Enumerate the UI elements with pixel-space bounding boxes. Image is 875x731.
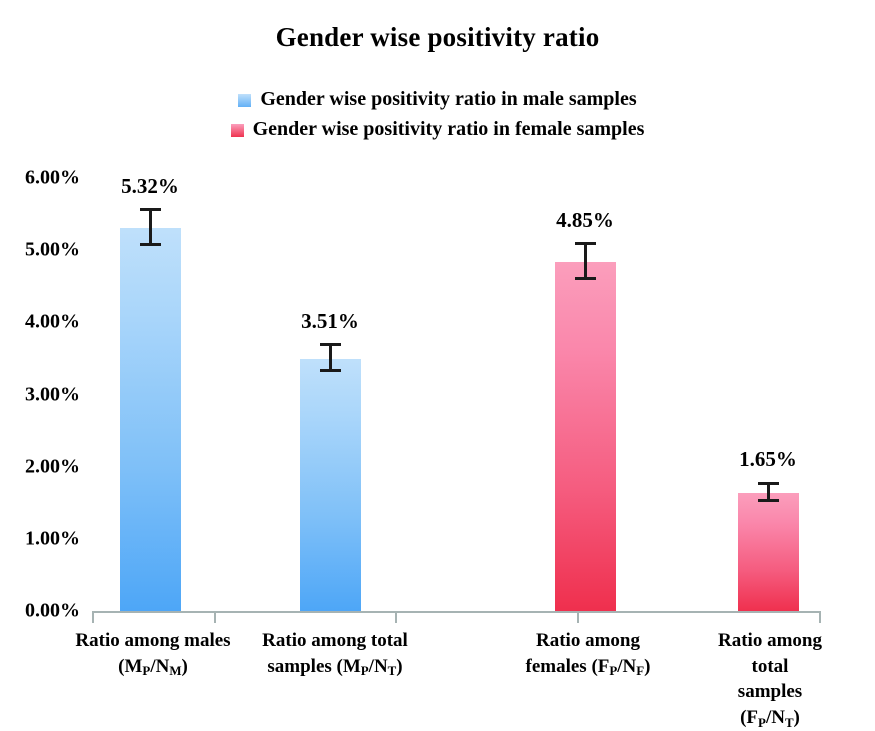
y-axis-tick-label: 3.00% xyxy=(25,383,80,406)
y-axis-tick-label: 6.00% xyxy=(25,167,80,190)
bar-value-label: 1.65% xyxy=(739,447,797,472)
gender-positivity-bar-chart: Gender wise positivity ratio Gender wise… xyxy=(0,0,875,695)
category-label-line-1: Ratio among total xyxy=(262,628,408,654)
category-label-line-1: Ratio among xyxy=(526,628,651,654)
legend-item-male[interactable]: Gender wise positivity ratio in male sam… xyxy=(0,84,875,114)
x-axis-category-label: Ratio amongfemales (FP/NF) xyxy=(526,628,651,679)
error-bar-cap-upper xyxy=(575,242,596,245)
category-label-line-2: samples (MP/NT) xyxy=(262,654,408,680)
bar-value-label: 5.32% xyxy=(121,174,179,199)
x-axis-end-cap xyxy=(819,612,821,623)
chart-title: Gender wise positivity ratio xyxy=(0,22,875,53)
error-bar-stem xyxy=(767,483,770,500)
x-axis-tick-1 xyxy=(214,612,216,623)
bar-ratio-among-males[interactable] xyxy=(120,228,181,612)
legend-item-female[interactable]: Gender wise positivity ratio in female s… xyxy=(0,114,875,144)
legend-label-male: Gender wise positivity ratio in male sam… xyxy=(260,88,636,111)
legend-label-female: Gender wise positivity ratio in female s… xyxy=(253,118,645,141)
x-axis-tick-2 xyxy=(395,612,397,623)
y-axis-tick-label: 4.00% xyxy=(25,311,80,334)
error-bar-cap-lower xyxy=(758,499,779,502)
error-bar-stem xyxy=(149,210,152,245)
error-bar-cap-lower xyxy=(575,277,596,280)
legend-swatch-male-icon xyxy=(238,94,251,107)
y-axis-tick-label: 0.00% xyxy=(25,600,80,623)
error-bar-stem xyxy=(584,244,587,279)
error-bar-cap-upper xyxy=(140,208,161,211)
bar-ratio-among-total-samples-female[interactable] xyxy=(738,493,799,612)
x-axis-line xyxy=(92,611,821,613)
y-axis-tick-label: 2.00% xyxy=(25,455,80,478)
x-axis-category-label: Ratio among males(MP/NM) xyxy=(75,628,230,679)
error-bar-cap-upper xyxy=(758,482,779,485)
y-axis-tick-label: 1.00% xyxy=(25,527,80,550)
x-axis-category-label: Ratio among totalsamples (FP/NT) xyxy=(718,628,823,731)
category-label-line-2: females (FP/NF) xyxy=(526,654,651,680)
category-label-line-2: samples (FP/NT) xyxy=(718,679,823,730)
error-bar-cap-lower xyxy=(320,369,341,372)
bar-ratio-among-females[interactable] xyxy=(555,262,616,612)
error-bar-stem xyxy=(329,345,332,371)
plot-area xyxy=(92,178,820,612)
category-label-line-2: (MP/NM) xyxy=(75,654,230,680)
chart-legend: Gender wise positivity ratio in male sam… xyxy=(0,84,875,144)
bar-value-label: 3.51% xyxy=(301,309,359,334)
error-bar-cap-upper xyxy=(320,343,341,346)
x-axis-tick-3 xyxy=(577,612,579,623)
bar-value-label: 4.85% xyxy=(556,208,614,233)
legend-swatch-female-icon xyxy=(231,124,244,137)
y-axis: 6.00%5.00%4.00%3.00%2.00%1.00%0.00% xyxy=(0,178,86,612)
category-label-line-1: Ratio among total xyxy=(718,628,823,679)
bar-ratio-among-total-samples-male[interactable] xyxy=(300,359,361,612)
error-bar-cap-lower xyxy=(140,243,161,246)
y-axis-tick-label: 5.00% xyxy=(25,239,80,262)
category-label-line-1: Ratio among males xyxy=(75,628,230,654)
x-axis-category-label: Ratio among totalsamples (MP/NT) xyxy=(262,628,408,679)
x-axis-start-cap xyxy=(92,612,94,623)
